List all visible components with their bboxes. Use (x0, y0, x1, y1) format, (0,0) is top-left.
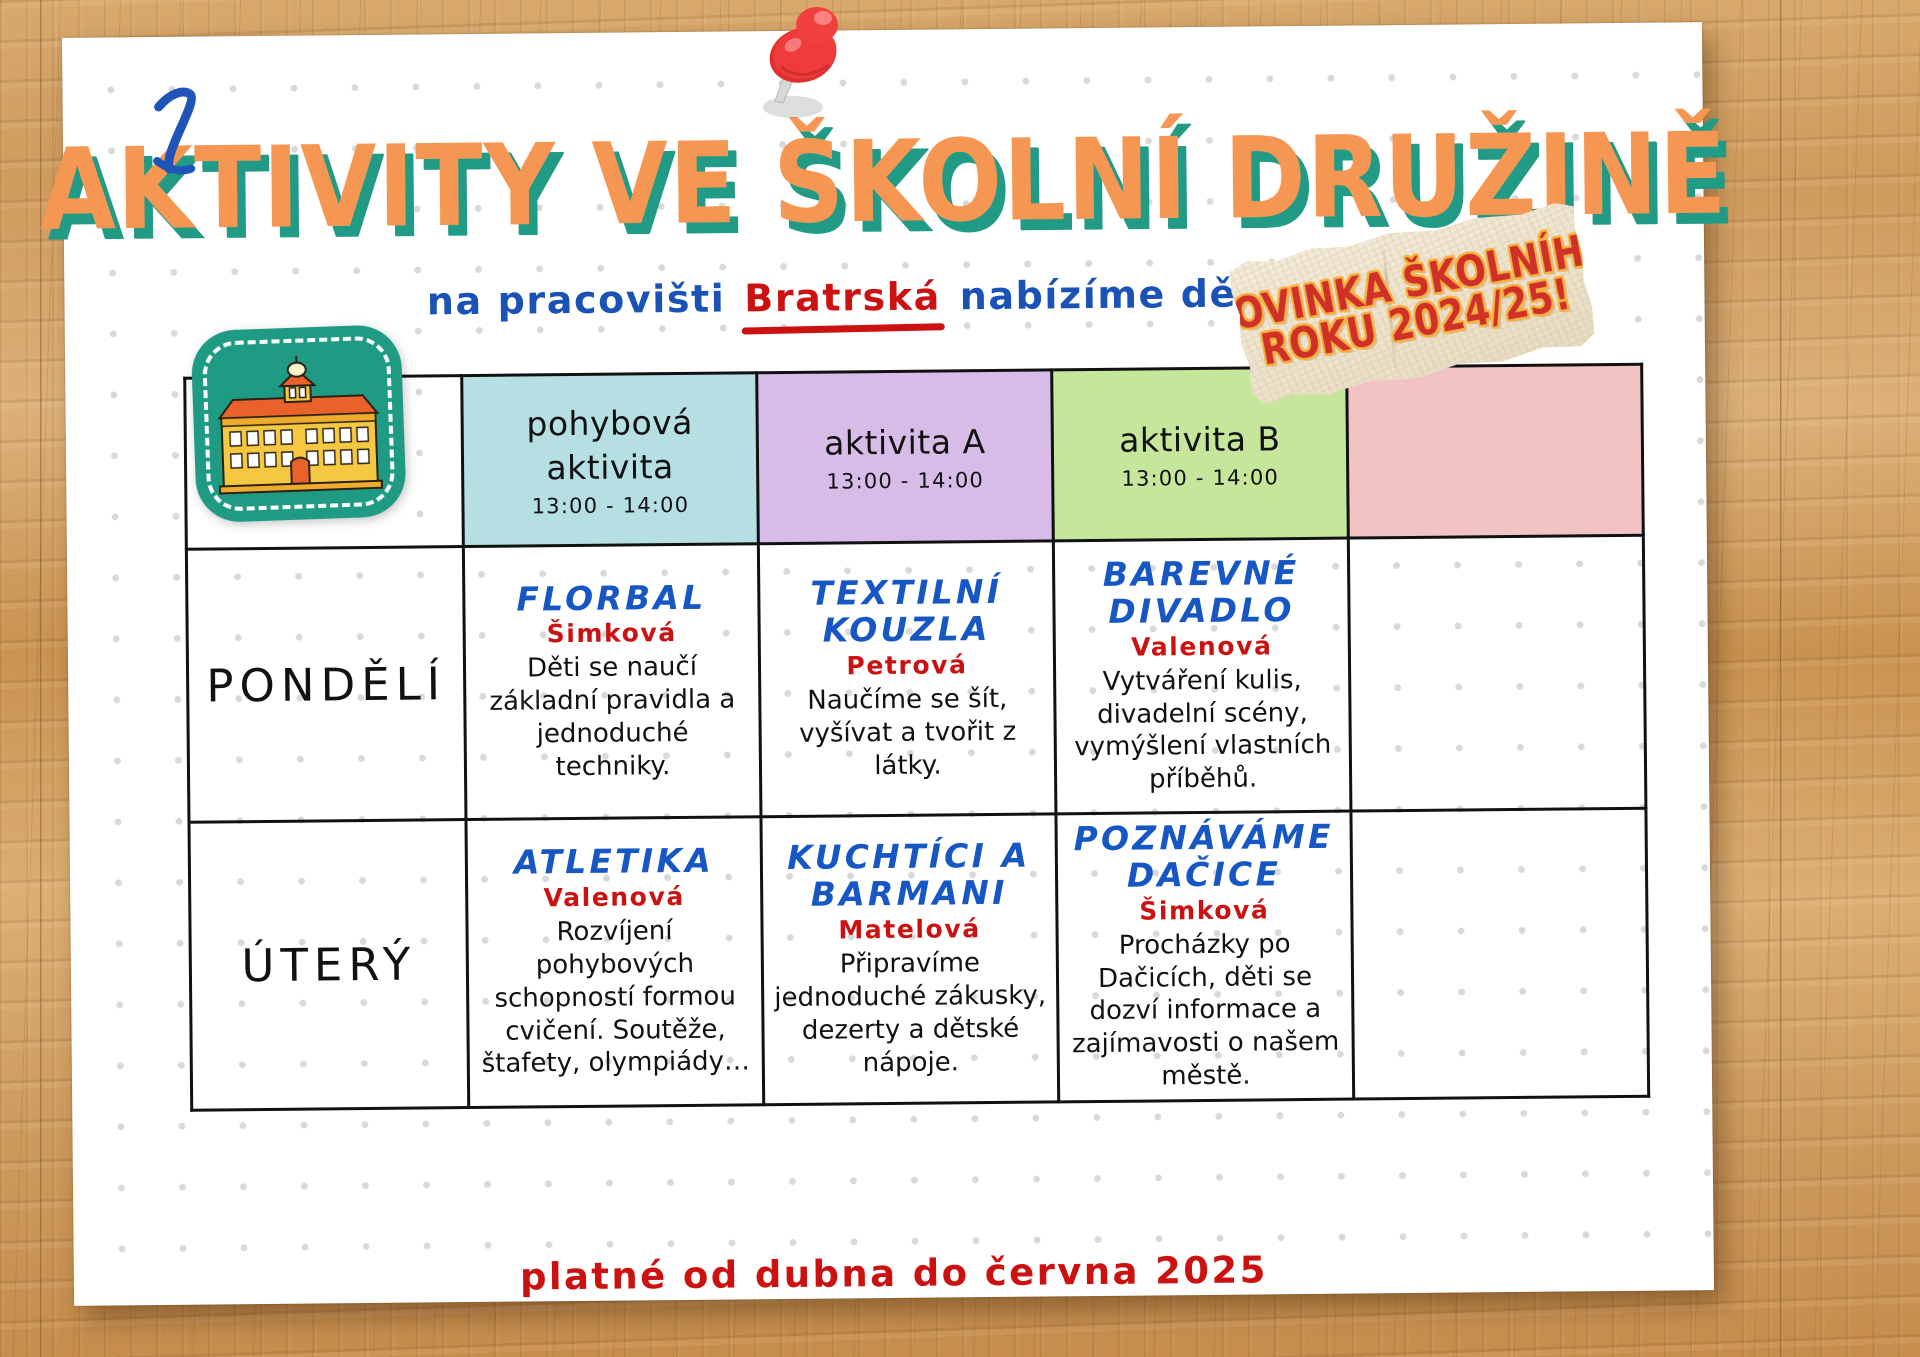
pushpin-icon (745, 0, 865, 125)
day-cell-tuesday: ÚTERÝ (189, 820, 469, 1110)
activity-description: Rozvíjení pohybových schopností formou c… (478, 915, 752, 1081)
table-row: ÚTERÝ ATLETIKA Valenová Rozvíjení pohybo… (189, 808, 1649, 1110)
header-cell-pohybova: pohybová aktivita 13:00 - 14:00 (462, 373, 759, 547)
activity-title: FLORBAL (475, 579, 747, 619)
poster-sheet: AKTIVITY VE ŠKOLNÍ DRUŽINĚ na pracovišti… (62, 22, 1714, 1306)
activity-teacher: Šimková (476, 618, 748, 650)
activity-teacher: Petrová (771, 650, 1043, 682)
activity-description: Děti se naučí základní pravidla a jednod… (476, 651, 749, 785)
activity-description: Procházky po Dačicích, děti se dozví inf… (1069, 928, 1343, 1094)
activity-cell-monday-pohybova: FLORBAL Šimková Děti se naučí základní p… (463, 544, 761, 820)
activity-description: Naučíme se šít, vyšívat a tvořit z látky… (771, 683, 1044, 784)
day-label-monday: PONDĚLÍ (199, 657, 453, 712)
activity-cell-tuesday-aktivita-b: POZNÁVÁME DAČICE Šimková Procházky po Da… (1056, 811, 1354, 1101)
header-time-aktivita-b: 13:00 - 14:00 (1121, 466, 1279, 492)
activity-title: TEXTILNÍ KOUZLA (770, 574, 1043, 651)
activity-cell-tuesday-pohybova: ATLETIKA Valenová Rozvíjení pohybových s… (466, 817, 764, 1107)
activity-cell-monday-aktivita-b: BAREVNÉ DIVADLO Valenová Vytváření kulis… (1053, 538, 1351, 814)
day-label-tuesday: ÚTERÝ (202, 937, 456, 992)
activity-teacher: Matelová (773, 914, 1045, 946)
table-row: PONDĚLÍ FLORBAL Šimková Děti se naučí zá… (186, 535, 1646, 822)
school-building-icon (190, 324, 407, 523)
activity-cell-tuesday-empty (1351, 808, 1649, 1098)
activity-description: Připravíme jednoduché zákusky, dezerty a… (774, 947, 1047, 1081)
header-cell-aktivita-a: aktivita A 13:00 - 14:00 (757, 370, 1054, 544)
activity-title: BAREVNÉ DIVADLO (1065, 555, 1338, 632)
activity-cell-monday-empty (1348, 535, 1646, 811)
activity-title: POZNÁVÁME DAČICE (1068, 819, 1341, 896)
header-label-aktivita-a: aktivita A (824, 420, 986, 465)
handwritten-one-icon (150, 84, 241, 185)
activity-teacher: Valenová (1066, 631, 1338, 663)
header-label-pohybova: pohybová aktivita (479, 400, 740, 490)
activity-teacher: Šimková (1068, 895, 1340, 927)
activity-teacher: Valenová (478, 882, 750, 914)
header-time-aktivita-a: 13:00 - 14:00 (826, 468, 984, 494)
header-label-aktivita-b: aktivita B (1119, 417, 1281, 462)
activity-title: KUCHTÍCI A BARMANI (773, 838, 1046, 915)
header-cell-empty (1347, 364, 1644, 538)
activity-cell-monday-aktivita-a: TEXTILNÍ KOUZLA Petrová Naučíme se šít, … (758, 541, 1056, 817)
activity-title: ATLETIKA (478, 843, 750, 883)
day-cell-monday: PONDĚLÍ (186, 547, 466, 823)
header-time-pohybova: 13:00 - 14:00 (532, 493, 690, 519)
subtitle-workplace: Bratrská (740, 274, 945, 320)
activity-cell-tuesday-aktivita-a: KUCHTÍCI A BARMANI Matelová Připravíme j… (761, 814, 1059, 1104)
subtitle-prefix: na pracovišti (427, 277, 726, 324)
activity-description: Vytváření kulis, divadelní scény, vymýšl… (1066, 664, 1339, 798)
